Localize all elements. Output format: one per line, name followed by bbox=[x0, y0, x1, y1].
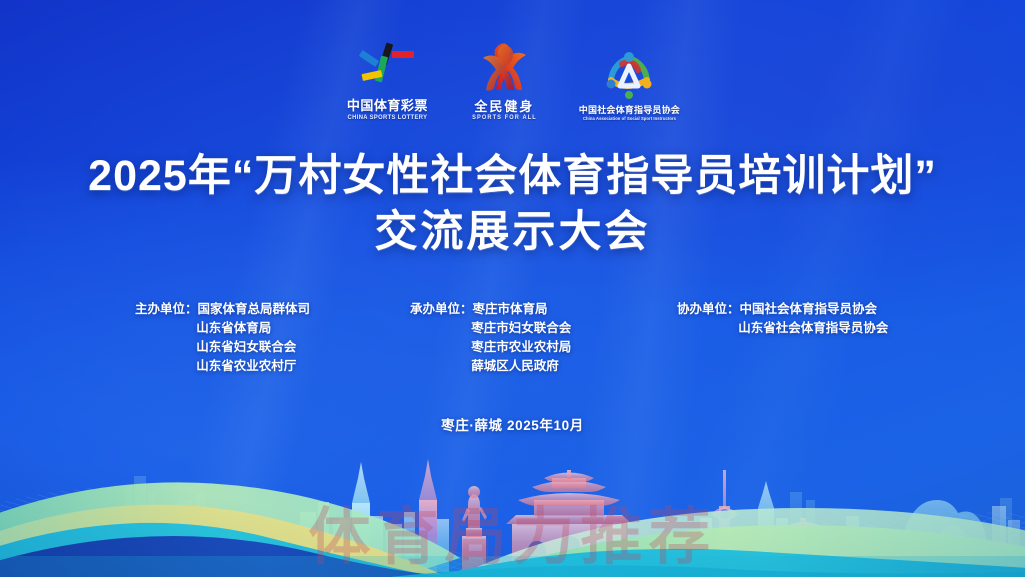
organizer-unit: 中国社会体育指导员协会 bbox=[740, 302, 878, 316]
organizer-row: 承办单位：枣庄市体育局 bbox=[410, 300, 571, 319]
organizer-unit: 国家体育总局群体司 bbox=[198, 302, 311, 316]
organizer-row: 山东省社会体育指导员协会 bbox=[677, 319, 888, 338]
sports-for-all-icon bbox=[476, 41, 532, 93]
logo-casi-cn: 中国社会体育指导员协会 bbox=[579, 103, 680, 116]
logo-sports-for-all-cn: 全民健身 bbox=[474, 96, 534, 115]
place-and-date: 枣庄·薛城 2025年10月 bbox=[0, 414, 1025, 434]
organizer-row: 山东省体育局 bbox=[135, 319, 310, 338]
casi-icon bbox=[600, 48, 658, 100]
poster-title: 2025年“万村女性社会体育指导员培训计划” 交流展示大会 bbox=[0, 148, 1025, 260]
organizer-row: 主办单位：国家体育总局群体司 bbox=[135, 300, 310, 319]
organizer-row: 枣庄市妇女联合会 bbox=[410, 319, 571, 338]
organizer-row: 山东省妇女联合会 bbox=[135, 338, 310, 357]
organizer-column-host: 主办单位：国家体育总局群体司 山东省体育局 山东省妇女联合会 山东省农业农村厅 bbox=[135, 300, 310, 376]
organizer-row: 山东省农业农村厅 bbox=[135, 357, 310, 376]
organizer-column-coorganizer: 协办单位：中国社会体育指导员协会 山东省社会体育指导员协会 bbox=[677, 300, 888, 338]
organizer-row: 薛城区人民政府 bbox=[410, 357, 571, 376]
organizer-label: 主办单位： bbox=[135, 302, 198, 316]
organizer-unit: 枣庄市体育局 bbox=[473, 302, 548, 316]
logo-china-sports-lottery-cn: 中国体育彩票 bbox=[347, 95, 428, 114]
organizer-column-organizer: 承办单位：枣庄市体育局 枣庄市妇女联合会 枣庄市农业农村局 薛城区人民政府 bbox=[410, 300, 571, 376]
logo-china-sports-lottery-en: CHINA SPORTS LOTTERY bbox=[348, 114, 428, 121]
organizer-label: 协办单位： bbox=[677, 302, 740, 316]
organizer-row: 协办单位：中国社会体育指导员协会 bbox=[677, 300, 888, 319]
china-sports-lottery-icon bbox=[356, 40, 418, 92]
logo-sports-for-all: 全民健身 SPORTS FOR ALL bbox=[470, 41, 539, 121]
logo-row: 中国体育彩票 CHINA SPORTS LOTTERY bbox=[0, 40, 1025, 121]
logo-casi-en: China Association of Social Sport Instru… bbox=[583, 116, 676, 121]
title-line-2: 交流展示大会 bbox=[0, 204, 1025, 260]
organizer-row: 枣庄市农业农村局 bbox=[410, 338, 571, 357]
organizer-label: 承办单位： bbox=[410, 302, 473, 316]
logo-china-sports-lottery: 中国体育彩票 CHINA SPORTS LOTTERY bbox=[345, 40, 430, 121]
poster-canvas: 体育局力推荐 中国体育彩票 CHINA SPORTS LOTTERY bbox=[0, 0, 1025, 577]
logo-sports-for-all-en: SPORTS FOR ALL bbox=[472, 115, 537, 121]
title-line-1: 2025年“万村女性社会体育指导员培训计划” bbox=[0, 148, 1025, 204]
logo-casi: 中国社会体育指导员协会 China Association of Social … bbox=[579, 48, 680, 121]
